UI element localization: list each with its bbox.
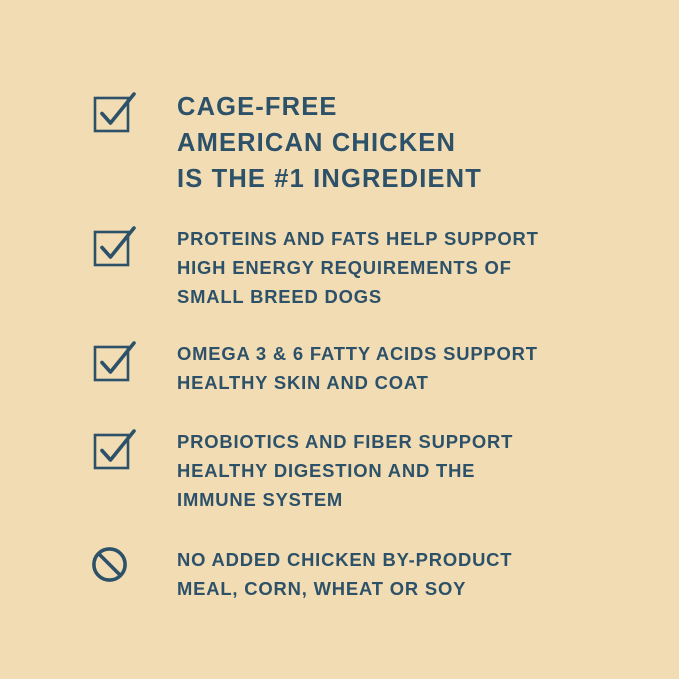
feature-list: CAGE-FREE AMERICAN CHICKEN IS THE #1 ING… [0,0,679,679]
checkbox-checked-icon [90,339,177,382]
feature-line: IMMUNE SYSTEM [177,486,513,515]
checkbox-checked-icon [90,224,177,267]
feature-item-probiotics-fiber: PROBIOTICS AND FIBER SUPPORT HEALTHY DIG… [90,427,513,514]
feature-line: IS THE #1 INGREDIENT [177,161,482,197]
feature-line: MEAL, CORN, WHEAT OR SOY [177,575,512,604]
feature-text: NO ADDED CHICKEN BY-PRODUCT MEAL, CORN, … [177,542,512,604]
feature-item-proteins-fats: PROTEINS AND FATS HELP SUPPORT HIGH ENER… [90,224,539,311]
feature-item-no-added-byproducts: NO ADDED CHICKEN BY-PRODUCT MEAL, CORN, … [90,542,512,604]
checkbox-checked-icon [90,88,177,133]
feature-text: PROBIOTICS AND FIBER SUPPORT HEALTHY DIG… [177,427,513,514]
feature-text: PROTEINS AND FATS HELP SUPPORT HIGH ENER… [177,224,539,311]
feature-line: SMALL BREED DOGS [177,283,539,312]
feature-line: PROBIOTICS AND FIBER SUPPORT [177,428,513,457]
no-entry-prohibition-icon [90,542,177,586]
feature-line: AMERICAN CHICKEN [177,125,482,161]
checkbox-checked-icon [90,427,177,470]
feature-line: NO ADDED CHICKEN BY-PRODUCT [177,546,512,575]
feature-line: OMEGA 3 & 6 FATTY ACIDS SUPPORT [177,340,538,369]
feature-line: HEALTHY SKIN AND COAT [177,369,538,398]
feature-text: OMEGA 3 & 6 FATTY ACIDS SUPPORT HEALTHY … [177,339,538,398]
feature-line: HEALTHY DIGESTION AND THE [177,457,513,486]
feature-line: PROTEINS AND FATS HELP SUPPORT [177,225,539,254]
feature-line: HIGH ENERGY REQUIREMENTS OF [177,254,539,283]
feature-line: CAGE-FREE [177,89,482,125]
feature-text: CAGE-FREE AMERICAN CHICKEN IS THE #1 ING… [177,88,482,197]
feature-item-omega-fatty-acids: OMEGA 3 & 6 FATTY ACIDS SUPPORT HEALTHY … [90,339,538,398]
feature-item-cage-free: CAGE-FREE AMERICAN CHICKEN IS THE #1 ING… [90,88,482,197]
